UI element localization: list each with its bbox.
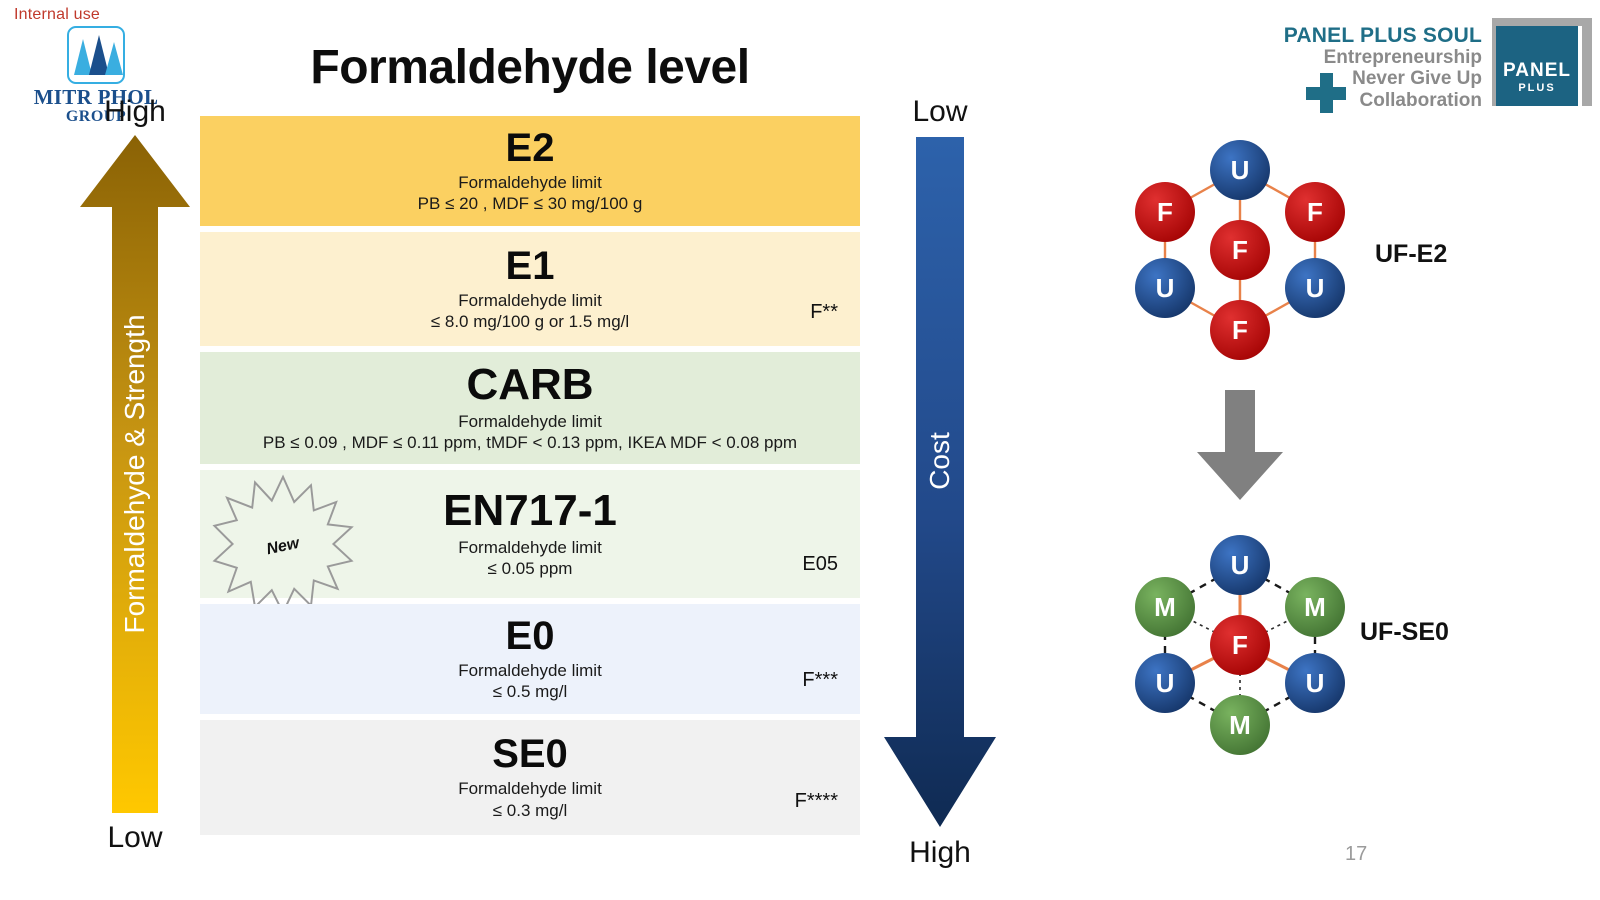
band-e2[interactable]: E2Formaldehyde limitPB ≤ 20 , MDF ≤ 30 m… [200,116,860,226]
molecule-uf-se0: UMMUUMF [1110,525,1370,760]
band-name: E2 [506,127,555,169]
mitr-phol-mark-icon [67,26,125,84]
svg-text:M: M [1229,710,1251,740]
plus-icon [1306,73,1346,113]
band-name: E0 [506,615,555,657]
left-axis-top-label: High [80,95,190,129]
band-name: SE0 [492,733,568,775]
svg-text:M: M [1304,592,1326,622]
page-number: 17 [1345,843,1367,866]
formaldehyde-strength-axis: High Formaldehyde & Strength Low [80,95,190,855]
band-limit-title: Formaldehyde limit [458,660,602,681]
band-marker: F**** [795,790,838,813]
band-limit-value: PB ≤ 20 , MDF ≤ 30 mg/100 g [418,193,643,215]
cost-axis-top-label: Low [880,95,1000,129]
svg-text:U: U [1306,273,1325,303]
band-limit-title: Formaldehyde limit [458,290,602,311]
molecule-uf-se0-label: UF-SE0 [1360,618,1449,647]
panel-plus-logo: PANEL PLUS [1492,18,1592,106]
svg-text:U: U [1306,668,1325,698]
band-marker: F** [810,301,838,324]
band-limit-title: Formaldehyde limit [458,172,602,193]
band-marker: E05 [802,553,838,576]
up-arrow-icon: Formaldehyde & Strength [80,135,190,813]
band-e0[interactable]: E0Formaldehyde limit≤ 0.5 mg/lF*** [200,604,860,714]
molecule-uf-e2-label: UF-E2 [1375,240,1447,269]
band-e1[interactable]: E1Formaldehyde limit≤ 8.0 mg/100 g or 1.… [200,232,860,346]
band-limit-value: ≤ 0.5 mg/l [493,681,568,703]
svg-text:F: F [1232,235,1248,265]
band-limit-title: Formaldehyde limit [458,411,602,432]
panel-plus-logo-inner: PANEL PLUS [1496,26,1582,106]
new-badge-starburst-icon: New [208,474,358,614]
band-name: EN717-1 [443,488,617,534]
band-limit-title: Formaldehyde limit [458,537,602,558]
left-axis-bottom-label: Low [80,821,190,855]
panel-plus-logo-primary: PANEL [1503,61,1571,80]
cost-axis-rotated-label: Cost [924,433,956,491]
page-title: Formaldehyde level [200,40,860,95]
band-limit-value: ≤ 0.3 mg/l [493,800,568,822]
band-name: E1 [506,245,555,287]
panel-plus-soul-text: PANEL PLUS SOUL Entrepreneurship Never G… [1284,18,1492,111]
band-carb[interactable]: CARBFormaldehyde limitPB ≤ 0.09 , MDF ≤ … [200,352,860,464]
svg-text:U: U [1156,273,1175,303]
band-name: CARB [466,362,593,408]
formaldehyde-level-bands: E2Formaldehyde limitPB ≤ 20 , MDF ≤ 30 m… [200,116,860,841]
band-limit-value: ≤ 0.05 ppm [488,558,573,580]
svg-text:U: U [1231,155,1250,185]
svg-text:M: M [1154,592,1176,622]
band-limit-value: ≤ 8.0 mg/100 g or 1.5 mg/l [431,311,629,333]
band-marker: F*** [802,669,838,692]
svg-text:F: F [1232,315,1248,345]
svg-text:F: F [1232,630,1248,660]
svg-text:U: U [1231,550,1250,580]
svg-text:U: U [1156,668,1175,698]
cost-axis-bottom-label: High [880,836,1000,870]
left-axis-rotated-label: Formaldehyde & Strength [119,314,151,633]
svg-text:F: F [1157,197,1173,227]
panel-plus-logo-secondary: PLUS [1518,82,1555,94]
band-en717-1[interactable]: NewEN717-1Formaldehyde limit≤ 0.05 ppmE0… [200,470,860,598]
internal-use-label: Internal use [14,6,100,24]
svg-text:F: F [1307,197,1323,227]
band-se0[interactable]: SE0Formaldehyde limit≤ 0.3 mg/lF**** [200,720,860,835]
transition-down-arrow-icon [1195,390,1285,500]
band-limit-value: PB ≤ 0.09 , MDF ≤ 0.11 ppm, tMDF < 0.13 … [263,432,797,454]
panel-plus-soul-title: PANEL PLUS SOUL [1284,24,1482,47]
brand-value-1: Entrepreneurship [1284,47,1482,68]
down-arrow-cost-icon: Cost [880,137,1000,827]
molecule-uf-e2: UFFUUFF [1110,130,1370,365]
band-limit-title: Formaldehyde limit [458,778,602,799]
cost-axis: Low Cost High [880,95,1000,870]
panel-plus-soul-values: Entrepreneurship Never Give Up Collabora… [1284,47,1482,111]
slide-root: Internal use MITR PHOL GROUP PANEL PLUS … [0,0,1600,900]
panel-plus-soul-branding: PANEL PLUS SOUL Entrepreneurship Never G… [1284,18,1592,111]
